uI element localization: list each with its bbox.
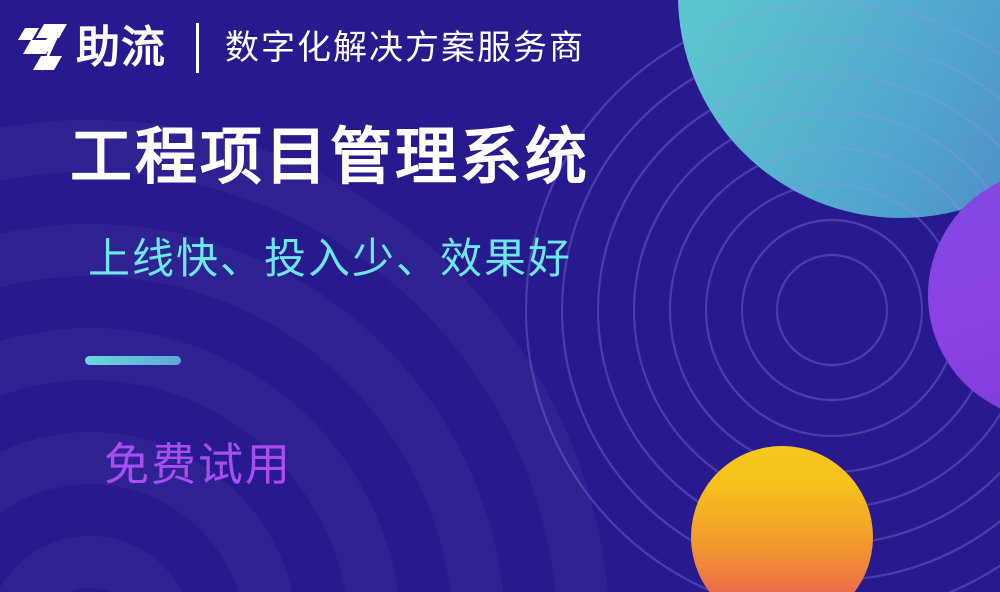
brand-name: 助流 — [76, 26, 166, 70]
gradient-divider-rule — [85, 356, 181, 365]
promo-banner: 助流 数字化解决方案服务商 工程项目管理系统 上线快、投入少、效果好 免费试用 — [0, 0, 1000, 592]
free-trial-cta[interactable]: 免费试用 — [104, 440, 292, 490]
page-title: 工程项目管理系统 — [70, 124, 590, 192]
brand-divider — [196, 23, 199, 73]
zhuliu-lightning-logo-icon — [18, 23, 70, 73]
banner-content: 助流 数字化解决方案服务商 工程项目管理系统 上线快、投入少、效果好 免费试用 — [0, 0, 1000, 592]
brand-tagline: 数字化解决方案服务商 — [225, 31, 585, 65]
page-subtitle: 上线快、投入少、效果好 — [88, 236, 572, 282]
brand-row: 助流 数字化解决方案服务商 — [18, 15, 585, 81]
